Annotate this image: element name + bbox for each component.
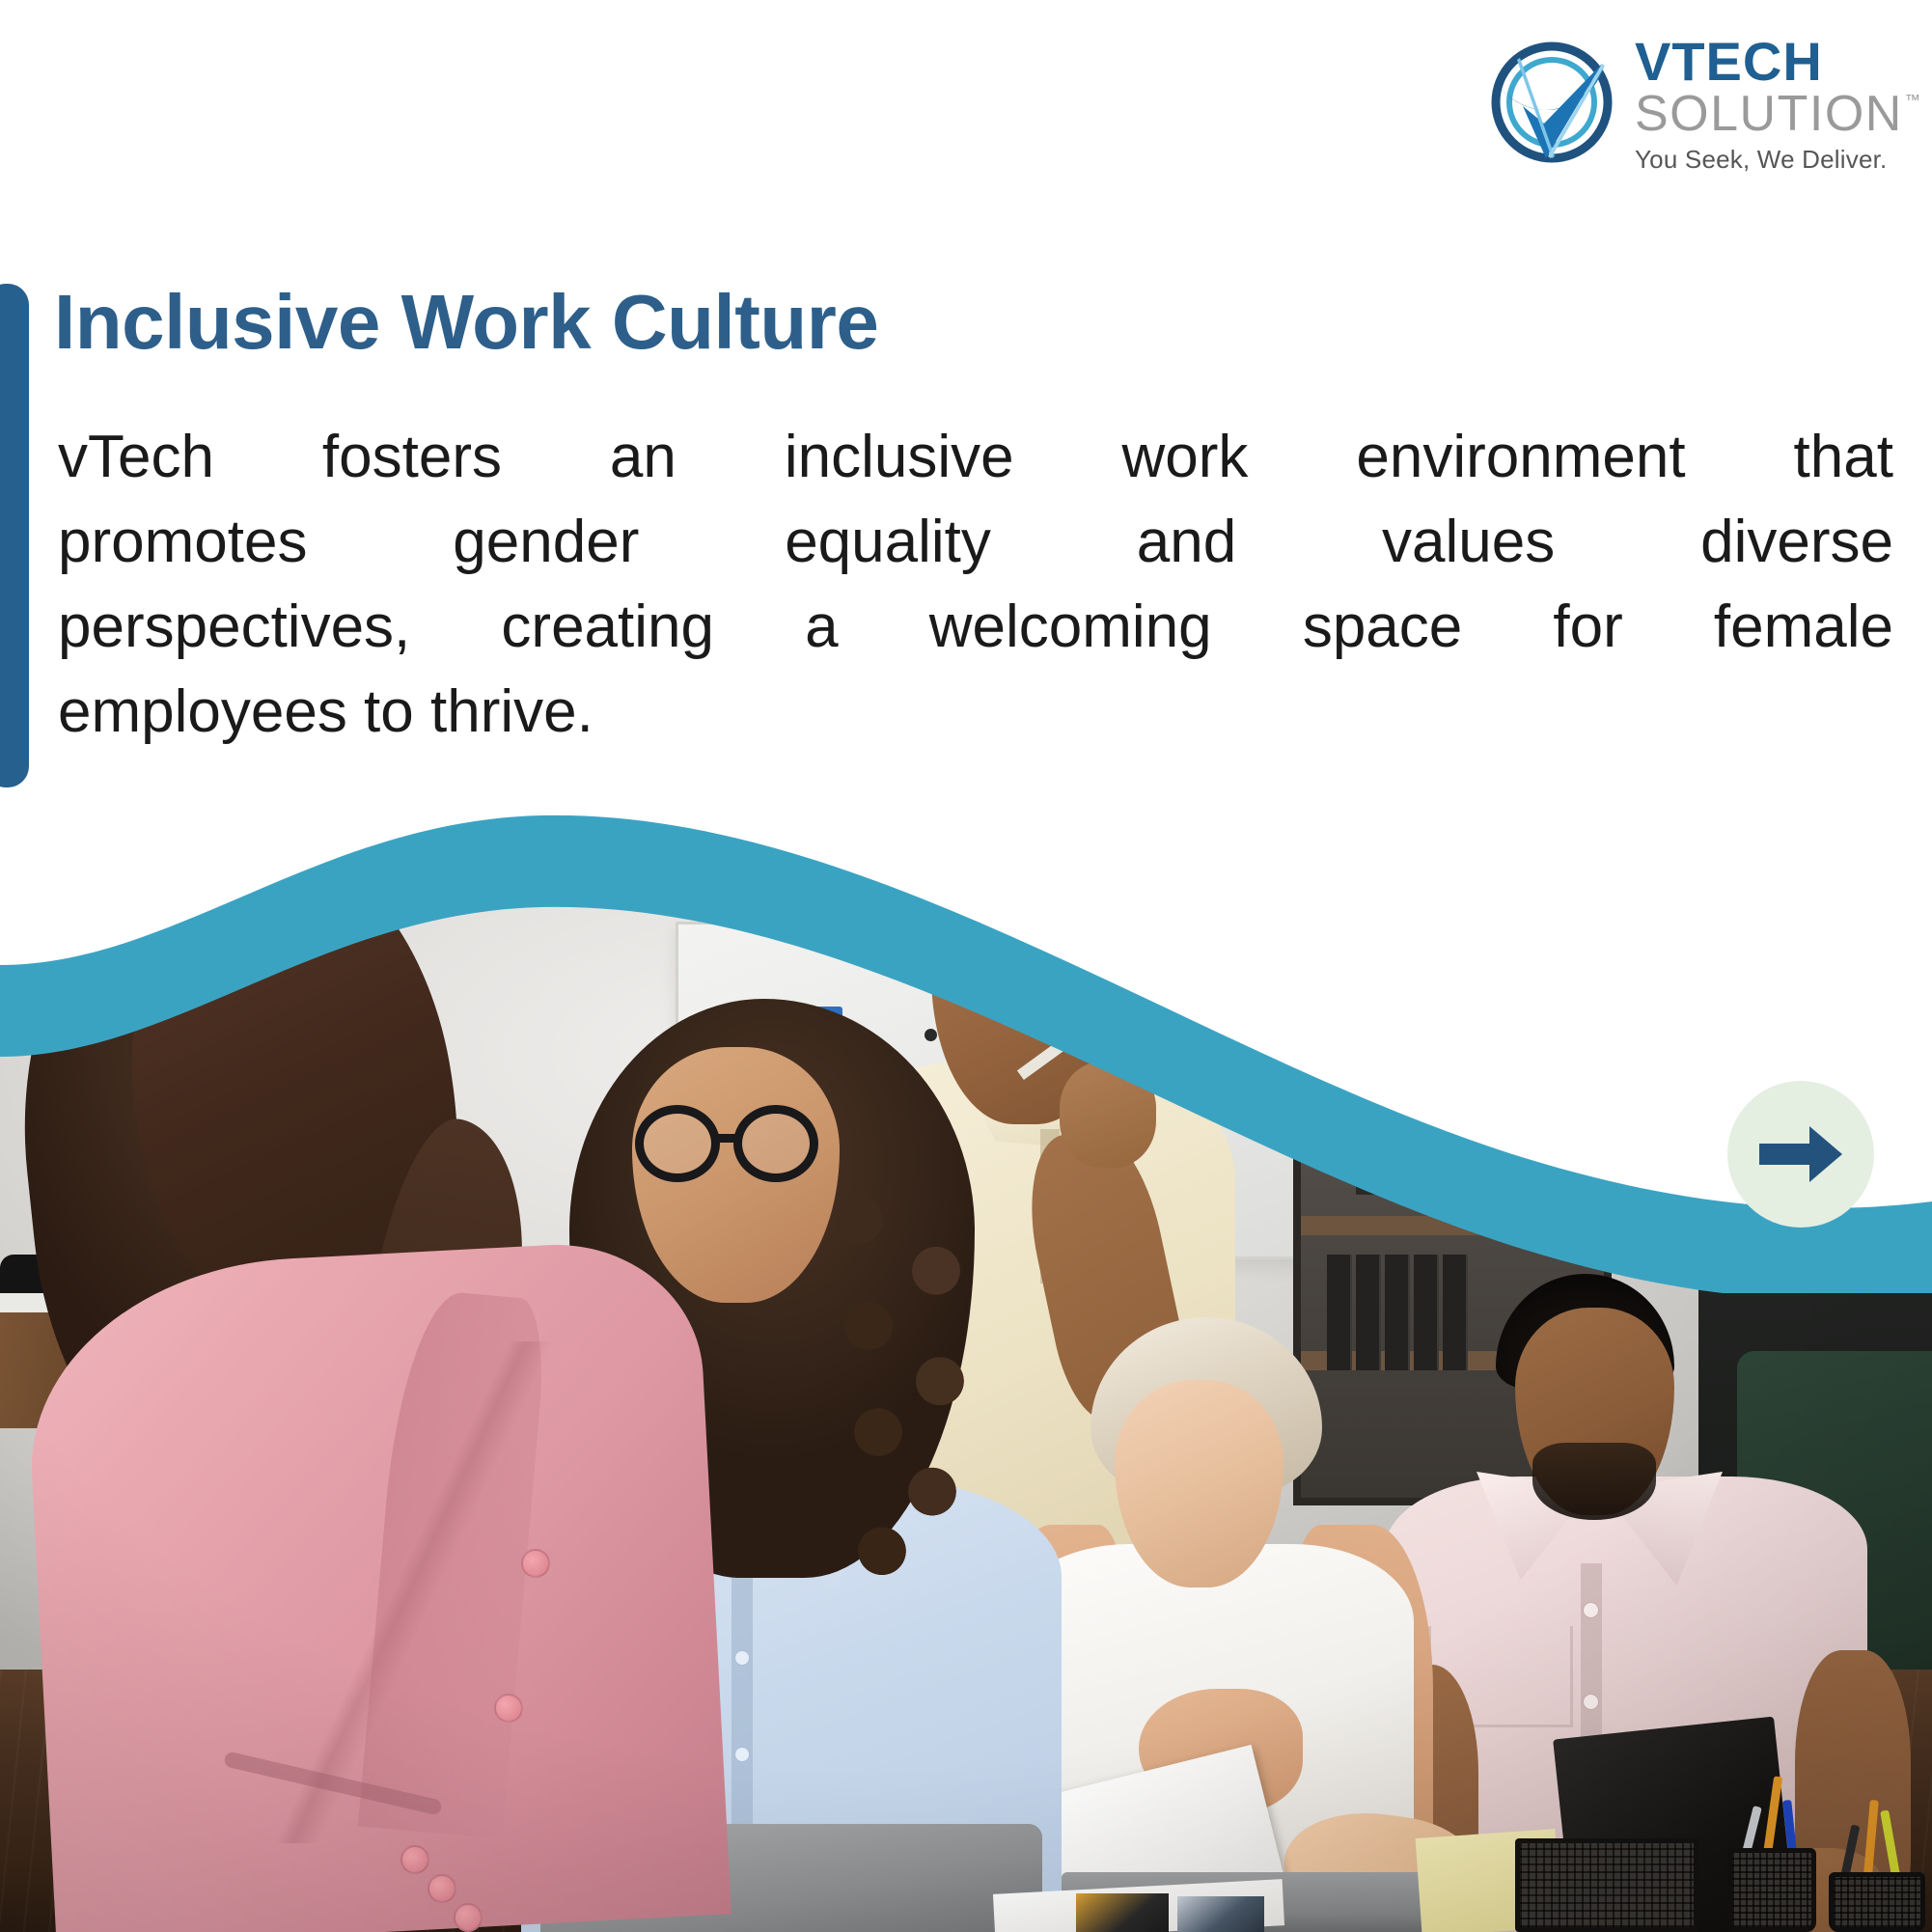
binder — [1327, 1255, 1352, 1370]
body-word: space — [1303, 585, 1462, 670]
slide-canvas: VTECH SOLUTION ™ You Seek, We Deliver. I… — [0, 0, 1932, 1932]
blazer-cuff-button — [428, 1874, 456, 1903]
brand-logo: VTECH SOLUTION ™ You Seek, We Deliver. — [1488, 35, 1893, 170]
page-title: Inclusive Work Culture — [54, 278, 878, 367]
blazer-sleeve-seam — [261, 1341, 579, 1843]
shirt-button — [1583, 1694, 1599, 1710]
brand-wordmark: VTECH SOLUTION ™ You Seek, We Deliver. — [1635, 30, 1920, 175]
binder — [1414, 1255, 1439, 1370]
shelf-plank — [1301, 1216, 1604, 1235]
printed-photo — [1076, 1893, 1169, 1932]
binder — [1385, 1255, 1410, 1370]
eyeglasses-bridge — [718, 1134, 739, 1143]
vtech-compass-logo-mark — [1488, 39, 1615, 166]
body-word: environment — [1356, 415, 1685, 500]
body-word: perspectives, — [58, 585, 410, 670]
eyeglasses-left-lens — [635, 1105, 720, 1182]
body-word: inclusive — [785, 415, 1014, 500]
shirt-button — [734, 1747, 750, 1762]
shirt-button — [734, 1650, 750, 1666]
body-word: gender — [453, 500, 639, 585]
mesh-file-holder — [1515, 1838, 1698, 1932]
body-word: diverse — [1700, 500, 1893, 585]
body-word: for — [1553, 585, 1622, 670]
body-word: creating — [501, 585, 714, 670]
body-word: work — [1122, 415, 1249, 500]
office-scene — [0, 676, 1932, 1932]
body-word: vTech — [58, 415, 214, 500]
printed-photo — [1177, 1896, 1264, 1932]
body-word: welcoming — [929, 585, 1212, 670]
body-word: and — [1137, 500, 1236, 585]
brand-name-line2-row: SOLUTION ™ — [1635, 89, 1920, 139]
person-cream-polo-hand — [1060, 1062, 1156, 1168]
body-word: an — [610, 415, 676, 500]
brand-name-line1: VTECH — [1635, 34, 1920, 89]
blazer-button — [521, 1549, 550, 1578]
body-line-1: vTech fosters an inclusive work environm… — [58, 415, 1893, 500]
body-word: female — [1714, 585, 1893, 670]
body-word: values — [1382, 500, 1555, 585]
body-word: promotes — [58, 500, 307, 585]
body-word: that — [1794, 415, 1893, 500]
body-word: fosters — [322, 415, 502, 500]
next-slide-button[interactable] — [1727, 1081, 1874, 1228]
brand-name-line2: SOLUTION — [1635, 89, 1903, 139]
binder — [1443, 1255, 1468, 1370]
binder — [1356, 1255, 1381, 1370]
eyeglasses-right-lens — [733, 1105, 818, 1182]
hero-photo — [0, 676, 1932, 1932]
blazer-button — [494, 1694, 523, 1723]
potted-plant-pot — [1356, 1139, 1414, 1195]
hero-photo-clip — [0, 676, 1932, 1932]
pencil-cup — [1829, 1872, 1925, 1932]
body-word: equality — [785, 500, 991, 585]
trademark-symbol: ™ — [1905, 93, 1920, 110]
shirt-button — [1583, 1602, 1599, 1618]
arrow-right-icon — [1759, 1124, 1842, 1184]
person-pink-shirt-beard — [1532, 1443, 1656, 1520]
body-line-3: perspectives, creating a welcoming space… — [58, 585, 1893, 670]
potted-plant-leaves — [1341, 1081, 1430, 1150]
blazer-cuff-button — [400, 1845, 429, 1874]
body-word: a — [805, 585, 838, 670]
person-glasses-curls — [801, 1177, 994, 1602]
body-line-2: promotes gender equality and values dive… — [58, 500, 1893, 585]
pencil-cup — [1727, 1848, 1816, 1932]
blazer-cuff-button — [454, 1903, 483, 1932]
brand-tagline: You Seek, We Deliver. — [1635, 145, 1920, 175]
